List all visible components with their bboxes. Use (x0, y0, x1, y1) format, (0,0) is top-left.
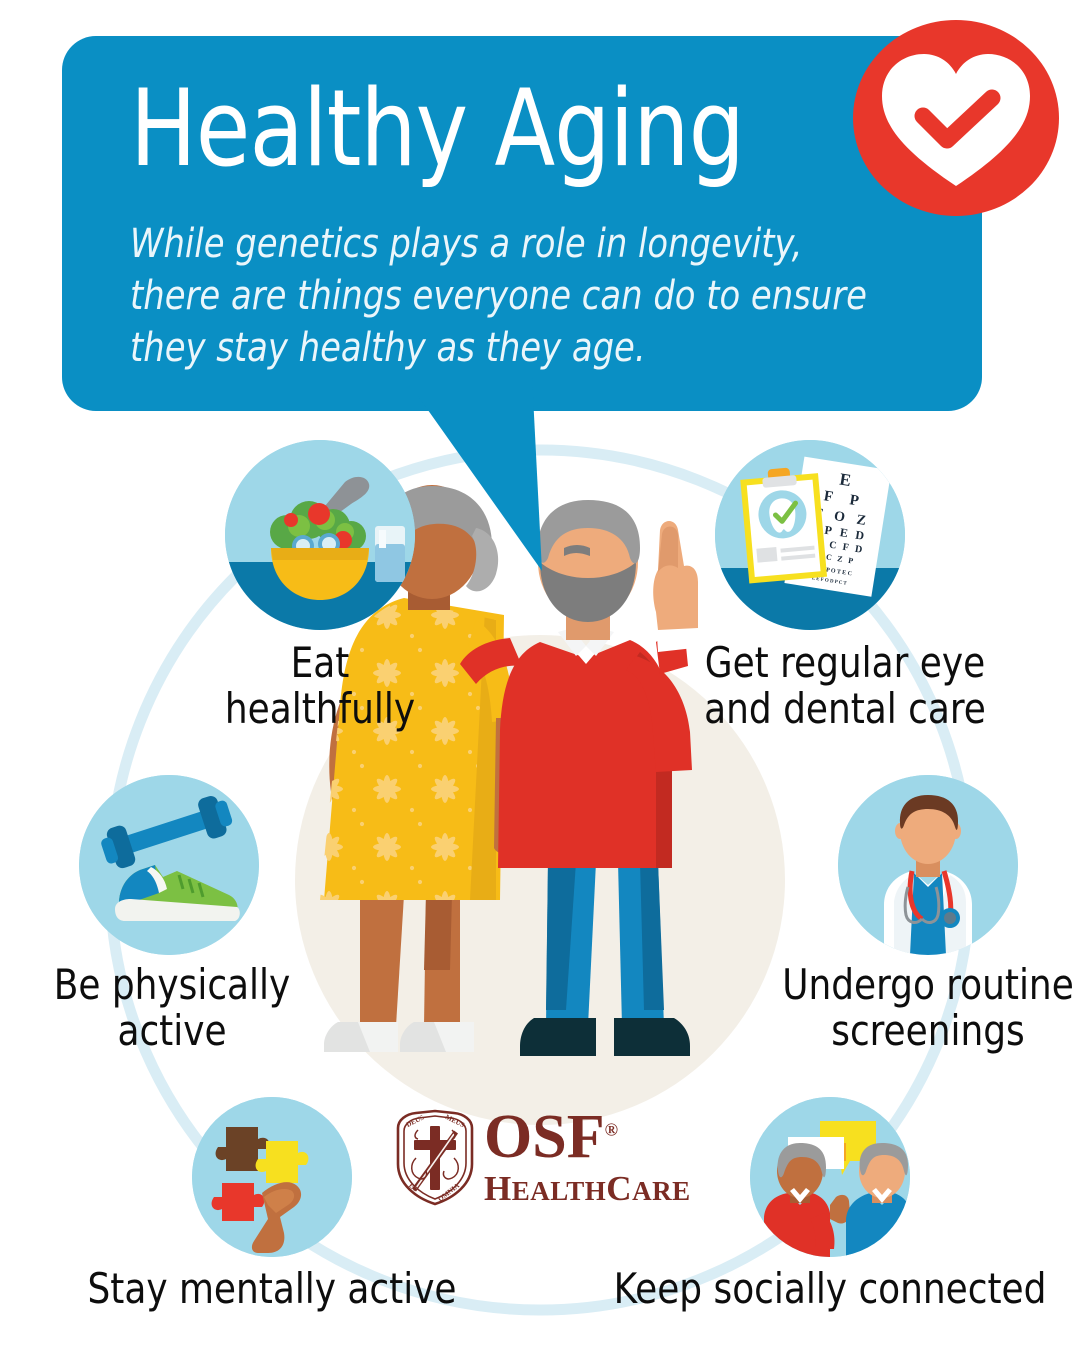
two-people-speech-bubbles-icon (750, 1097, 910, 1257)
infographic-canvas: Healthy Aging While genetics plays a rol… (0, 0, 1080, 1350)
node-active-line-2: active (20, 1008, 324, 1054)
node-mental-label: Stay mentally active (58, 1265, 486, 1313)
tagline-h: H (484, 1169, 512, 1208)
subtitle-line-2: there are things everyone can do to ensu… (130, 270, 873, 322)
registered-mark: ® (605, 1119, 618, 1139)
page-title: Healthy Aging (130, 76, 744, 182)
node-screen-line-1: Undergo routine (738, 962, 1080, 1008)
osf-letters: OSF (484, 1103, 605, 1171)
osf-healthcare-logo[interactable]: DEUS MEUS ET OMNIA OSF® HEALTHCARE (392, 1104, 672, 1209)
osf-tagline: HEALTHCARE (484, 1170, 691, 1210)
heart-check-icon (846, 18, 1066, 218)
salad-bowl-water-glass-icon (225, 440, 415, 630)
node-active-line-1: Be physically (20, 962, 324, 1008)
node-eye-label: Get regular eye and dental care (641, 640, 1050, 732)
osf-wordmark-main: OSF® (484, 1106, 691, 1168)
node-social-label: Keep socially connected (597, 1265, 1063, 1313)
subtitle-line-1: While genetics plays a role in longevity… (130, 218, 873, 270)
node-social-line-1: Keep socially connected (597, 1265, 1063, 1313)
node-active-label: Be physically active (20, 962, 324, 1054)
node-eye-line-1: Get regular eye (641, 640, 1050, 686)
subtitle-line-3: they stay healthy as they age. (130, 322, 873, 374)
node-eat-label: Eat healthfully (140, 640, 501, 732)
osf-wordmark: OSF® HEALTHCARE (484, 1106, 691, 1210)
tagline-ealth: EALTH (512, 1176, 607, 1206)
node-screen-line-2: screenings (738, 1008, 1080, 1054)
osf-crest-icon: DEUS MEUS ET OMNIA (392, 1106, 478, 1206)
node-eat-line-1: Eat (140, 640, 501, 686)
dumbbell-sneaker-icon (79, 775, 259, 955)
node-eye-line-2: and dental care (641, 686, 1050, 732)
tagline-are: ARE (632, 1176, 691, 1206)
page-subtitle: While genetics plays a role in longevity… (130, 218, 873, 374)
eye-chart-dental-clipboard-icon: E FP TOZ LPED PECFD EFCZP D E F P O T E … (715, 440, 905, 630)
doctor-stethoscope-icon (838, 775, 1018, 955)
tagline-c: C (606, 1169, 632, 1208)
puzzle-hand-icon (192, 1097, 352, 1257)
node-screen-label: Undergo routine screenings (738, 962, 1080, 1054)
node-mental-line-1: Stay mentally active (58, 1265, 486, 1313)
node-eat-line-2: healthfully (140, 686, 501, 732)
